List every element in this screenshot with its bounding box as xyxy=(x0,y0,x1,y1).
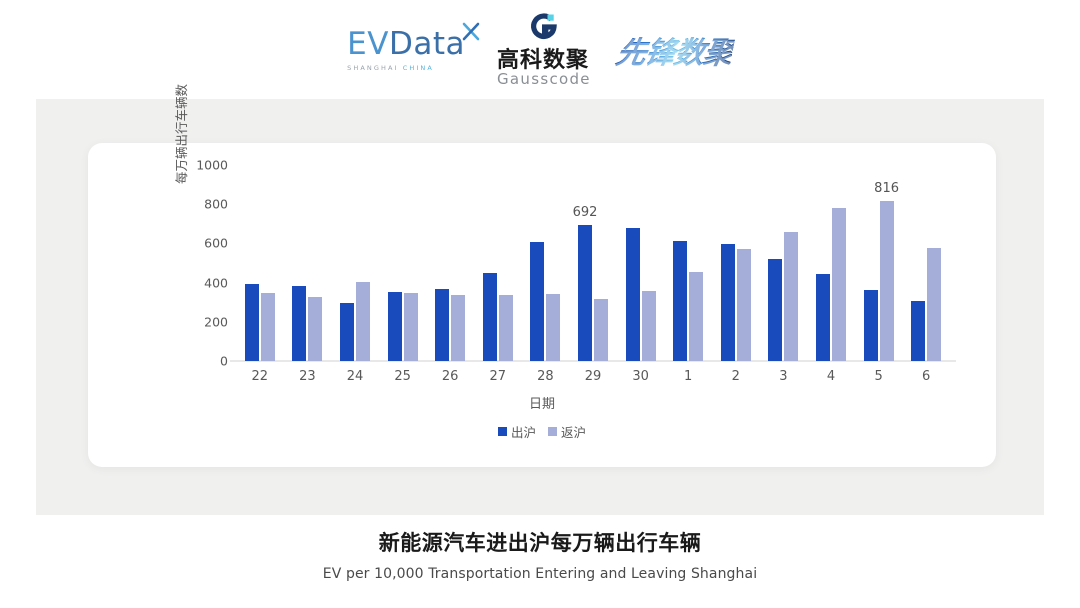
bar-out[interactable] xyxy=(530,242,544,361)
x-axis-ticks: 222324252627282930123456 xyxy=(236,369,950,387)
evdata-ev-text: EV xyxy=(347,26,389,62)
bar-out[interactable] xyxy=(911,301,925,361)
bar-group xyxy=(474,273,522,361)
bar-group xyxy=(760,232,808,361)
bar-chart: 每万辆出行车辆数 02004006008001000 692816 222324… xyxy=(88,143,996,467)
bar-out[interactable] xyxy=(673,241,687,361)
x-axis-title: 日期 xyxy=(88,393,996,412)
bar-group xyxy=(379,292,427,361)
bar-back[interactable] xyxy=(832,208,846,361)
x-tick-label: 24 xyxy=(347,369,364,384)
chart-legend: 出沪返沪 xyxy=(88,422,996,441)
bar-out[interactable] xyxy=(483,273,497,361)
bar-group xyxy=(331,282,379,361)
legend-label: 返沪 xyxy=(561,422,586,441)
bar-back[interactable] xyxy=(356,282,370,361)
evdata-wordmark: EVData xyxy=(347,29,465,60)
x-cross-icon xyxy=(461,22,481,42)
bar-out[interactable] xyxy=(340,303,354,361)
y-axis-ticks: 02004006008001000 xyxy=(184,165,228,361)
x-tick-label: 25 xyxy=(394,369,411,384)
x-tick-label: 4 xyxy=(827,369,835,384)
bar-group xyxy=(284,286,332,361)
bar-out[interactable] xyxy=(626,228,640,361)
bar-value-label: 816 xyxy=(874,181,899,196)
chart-card: 每万辆出行车辆数 02004006008001000 692816 222324… xyxy=(88,143,996,467)
bar-back[interactable]: 816 xyxy=(880,201,894,361)
bar-group xyxy=(426,289,474,361)
x-tick-label: 6 xyxy=(922,369,930,384)
evdata-tagline-china: CHINA xyxy=(403,64,434,72)
x-tick-label: 26 xyxy=(442,369,459,384)
xianfeng-wordmark: 先锋数聚 xyxy=(613,28,738,72)
x-tick-label: 22 xyxy=(252,369,269,384)
legend-swatch-icon xyxy=(498,427,507,436)
y-tick-label: 0 xyxy=(220,354,228,369)
y-tick-label: 1000 xyxy=(196,158,228,173)
bar-out[interactable] xyxy=(435,289,449,361)
y-tick-label: 600 xyxy=(204,236,228,251)
y-tick-label: 800 xyxy=(204,197,228,212)
bar-out[interactable] xyxy=(292,286,306,361)
gausscode-text-block: 高科数聚 Gausscode xyxy=(497,49,591,88)
bar-back[interactable] xyxy=(499,295,513,361)
gausscode-en-name: Gausscode xyxy=(497,72,591,88)
caption-block: 新能源汽车进出沪每万辆出行车辆 EV per 10,000 Transporta… xyxy=(0,527,1080,582)
y-tick-label: 400 xyxy=(204,275,228,290)
bar-back[interactable] xyxy=(642,291,656,361)
evdata-tagline: SHANGHAI CHINA xyxy=(347,64,434,72)
bar-out[interactable] xyxy=(768,259,782,361)
bar-group xyxy=(664,241,712,361)
x-tick-label: 27 xyxy=(490,369,507,384)
bar-group xyxy=(236,284,284,361)
x-tick-label: 28 xyxy=(537,369,554,384)
x-tick-label: 30 xyxy=(632,369,649,384)
chart-plot-area: 692816 xyxy=(236,165,950,361)
bar-back[interactable] xyxy=(594,299,608,361)
y-tick-label: 200 xyxy=(204,314,228,329)
x-tick-label: 23 xyxy=(299,369,316,384)
bar-out[interactable] xyxy=(388,292,402,361)
logo-gausscode: 高科数聚 Gausscode xyxy=(497,12,591,88)
x-tick-label: 5 xyxy=(874,369,882,384)
bar-group xyxy=(807,208,855,361)
logo-xianfeng: 先锋数聚 xyxy=(617,28,733,72)
x-tick-label: 1 xyxy=(684,369,692,384)
logo-bar: EVData SHANGHAI CHINA 高科数聚 Gausscode 先锋数… xyxy=(0,22,1080,78)
bar-back[interactable] xyxy=(451,295,465,361)
legend-swatch-icon xyxy=(548,427,557,436)
bar-out[interactable] xyxy=(245,284,259,361)
x-tick-label: 29 xyxy=(585,369,602,384)
bar-out[interactable] xyxy=(864,290,878,361)
x-tick-label: 3 xyxy=(779,369,787,384)
caption-title-cn: 新能源汽车进出沪每万辆出行车辆 xyxy=(0,527,1080,557)
legend-item[interactable]: 返沪 xyxy=(548,422,586,441)
bar-back[interactable] xyxy=(689,272,703,361)
bar-out[interactable]: 692 xyxy=(578,225,592,361)
bar-back[interactable] xyxy=(927,248,941,361)
bar-group xyxy=(712,244,760,361)
bar-out[interactable] xyxy=(816,274,830,361)
caption-title-en: EV per 10,000 Transportation Entering an… xyxy=(0,566,1080,582)
slide-root: EVData SHANGHAI CHINA 高科数聚 Gausscode 先锋数… xyxy=(0,0,1080,608)
bar-back[interactable] xyxy=(737,249,751,361)
bar-group: 692 xyxy=(569,225,617,361)
x-tick-label: 2 xyxy=(732,369,740,384)
bar-group xyxy=(522,242,570,361)
evdata-data-text: Data xyxy=(389,26,465,62)
bar-group xyxy=(902,248,950,361)
evdata-tagline-shanghai: SHANGHAI xyxy=(347,64,398,72)
legend-label: 出沪 xyxy=(511,422,536,441)
bar-back[interactable] xyxy=(308,297,322,361)
bar-out[interactable] xyxy=(721,244,735,361)
bar-back[interactable] xyxy=(784,232,798,361)
legend-item[interactable]: 出沪 xyxy=(498,422,536,441)
bar-group xyxy=(617,228,665,361)
bar-value-label: 692 xyxy=(573,205,598,220)
g-circle-icon xyxy=(529,12,559,42)
bar-back[interactable] xyxy=(404,293,418,361)
gausscode-cn-name: 高科数聚 xyxy=(497,49,589,72)
bar-back[interactable] xyxy=(546,294,560,361)
bar-group: 816 xyxy=(855,201,903,361)
bar-back[interactable] xyxy=(261,293,275,361)
logo-evdata: EVData SHANGHAI CHINA xyxy=(347,29,471,72)
